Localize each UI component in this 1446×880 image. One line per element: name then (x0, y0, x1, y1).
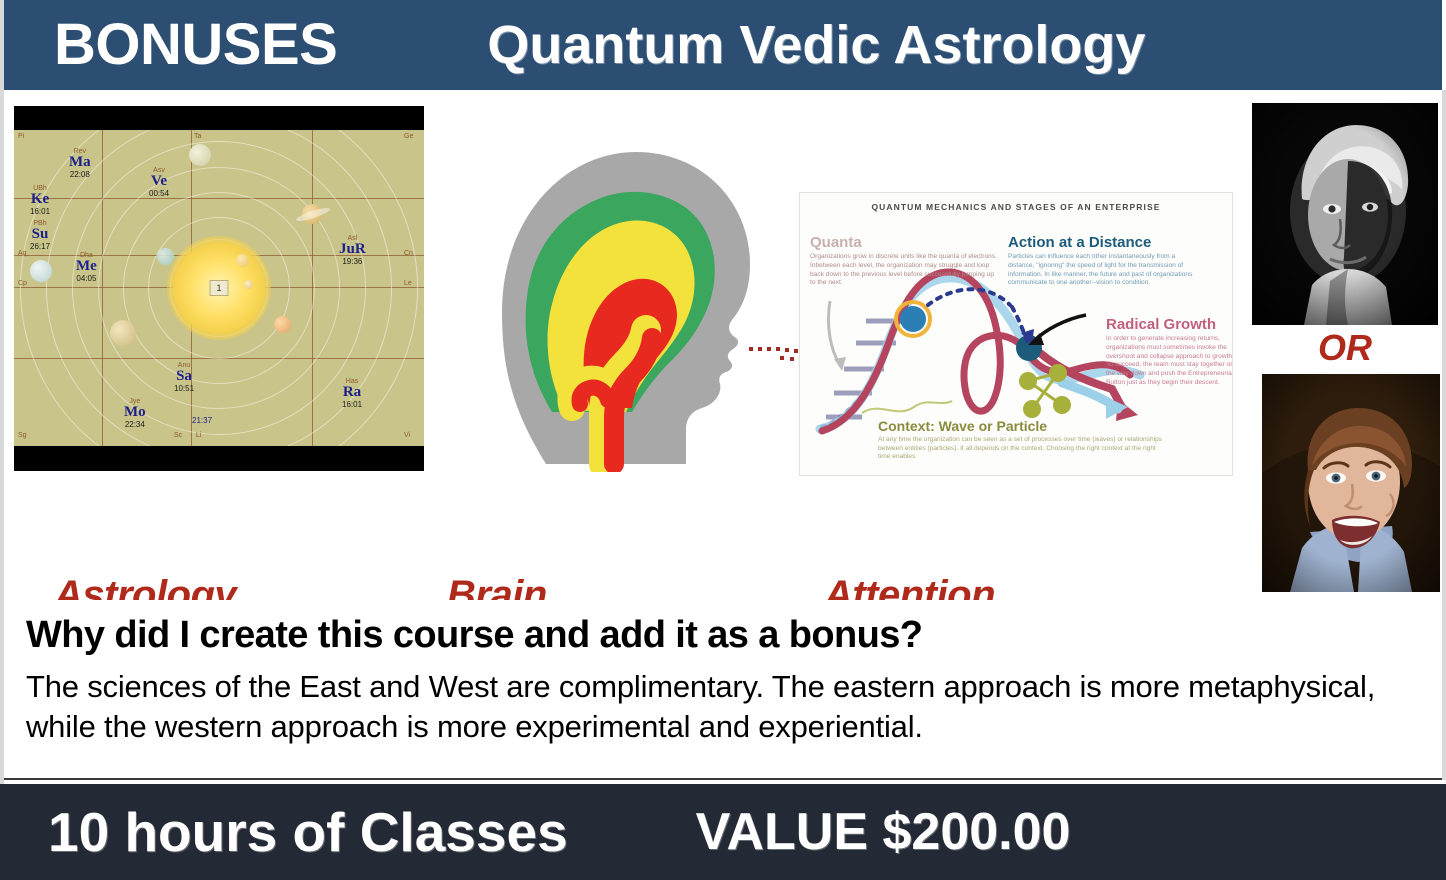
brain-head-icon (454, 112, 784, 472)
quantum-section-action: Action at a Distance Particles can influ… (1008, 235, 1200, 288)
portrait-photo-top (1252, 103, 1438, 325)
bonus-slide: BONUSES Quantum Vedic Astrology (0, 0, 1446, 880)
value-label: VALUE $200.00 (696, 806, 1071, 858)
panels-area: 1 Pi Ta Ge Aq Cn Cp Le Sg Sc Li (4, 92, 1442, 592)
page-title: Quantum Vedic Astrology (487, 18, 1145, 72)
planet-label: PBh Su 26:17 (30, 220, 50, 251)
planet-label: Rev Ma 22:08 (69, 148, 91, 179)
quantum-diagram-image: QUANTUM MECHANICS AND STAGES OF AN ENTER… (799, 192, 1233, 476)
astrology-chart-image: 1 Pi Ta Ge Aq Cn Cp Le Sg Sc Li (14, 106, 424, 471)
right-edge-border (1442, 90, 1446, 780)
planet-label: Dha Me 04:05 (76, 252, 97, 283)
house-number: 1 (209, 280, 228, 296)
planet-label: UBh Ke 16:01 (30, 185, 50, 216)
header-bar: BONUSES Quantum Vedic Astrology (4, 0, 1442, 90)
planet-label: Asl JuR 19:36 (339, 235, 366, 266)
body-copy-heading: Why did I create this course and add it … (26, 614, 1420, 657)
astrology-chart-canvas: 1 Pi Ta Ge Aq Cn Cp Le Sg Sc Li (14, 130, 424, 446)
bonuses-label: BONUSES (54, 16, 337, 74)
brain-illustration (454, 112, 784, 472)
copy-divider (4, 778, 1442, 780)
ascendant-degree: 21:37 (192, 416, 212, 425)
or-label: OR (1252, 327, 1438, 369)
planet-label: Asv Ve 00:54 (149, 167, 169, 198)
planet-label: Has Ra 16:01 (342, 378, 362, 409)
footer-bar: 10 hours of Classes VALUE $200.00 (0, 784, 1446, 880)
quantum-section-radical: Radical Growth In order to generate incr… (1106, 317, 1233, 388)
planet-label: Anu Sa 10:51 (174, 362, 194, 393)
portrait-photo-bottom (1262, 374, 1440, 592)
quantum-section-context: Context: Wave or Particle At any time th… (878, 419, 1168, 462)
body-copy-block: Why did I create this course and add it … (4, 600, 1442, 780)
body-copy-paragraph: The sciences of the East and West are co… (26, 667, 1420, 748)
quantum-section-quanta: Quanta Organizations grow in discrete un… (810, 235, 1000, 288)
planet-label: Jye Mo 22:34 (124, 398, 146, 429)
hours-label: 10 hours of Classes (48, 805, 568, 860)
